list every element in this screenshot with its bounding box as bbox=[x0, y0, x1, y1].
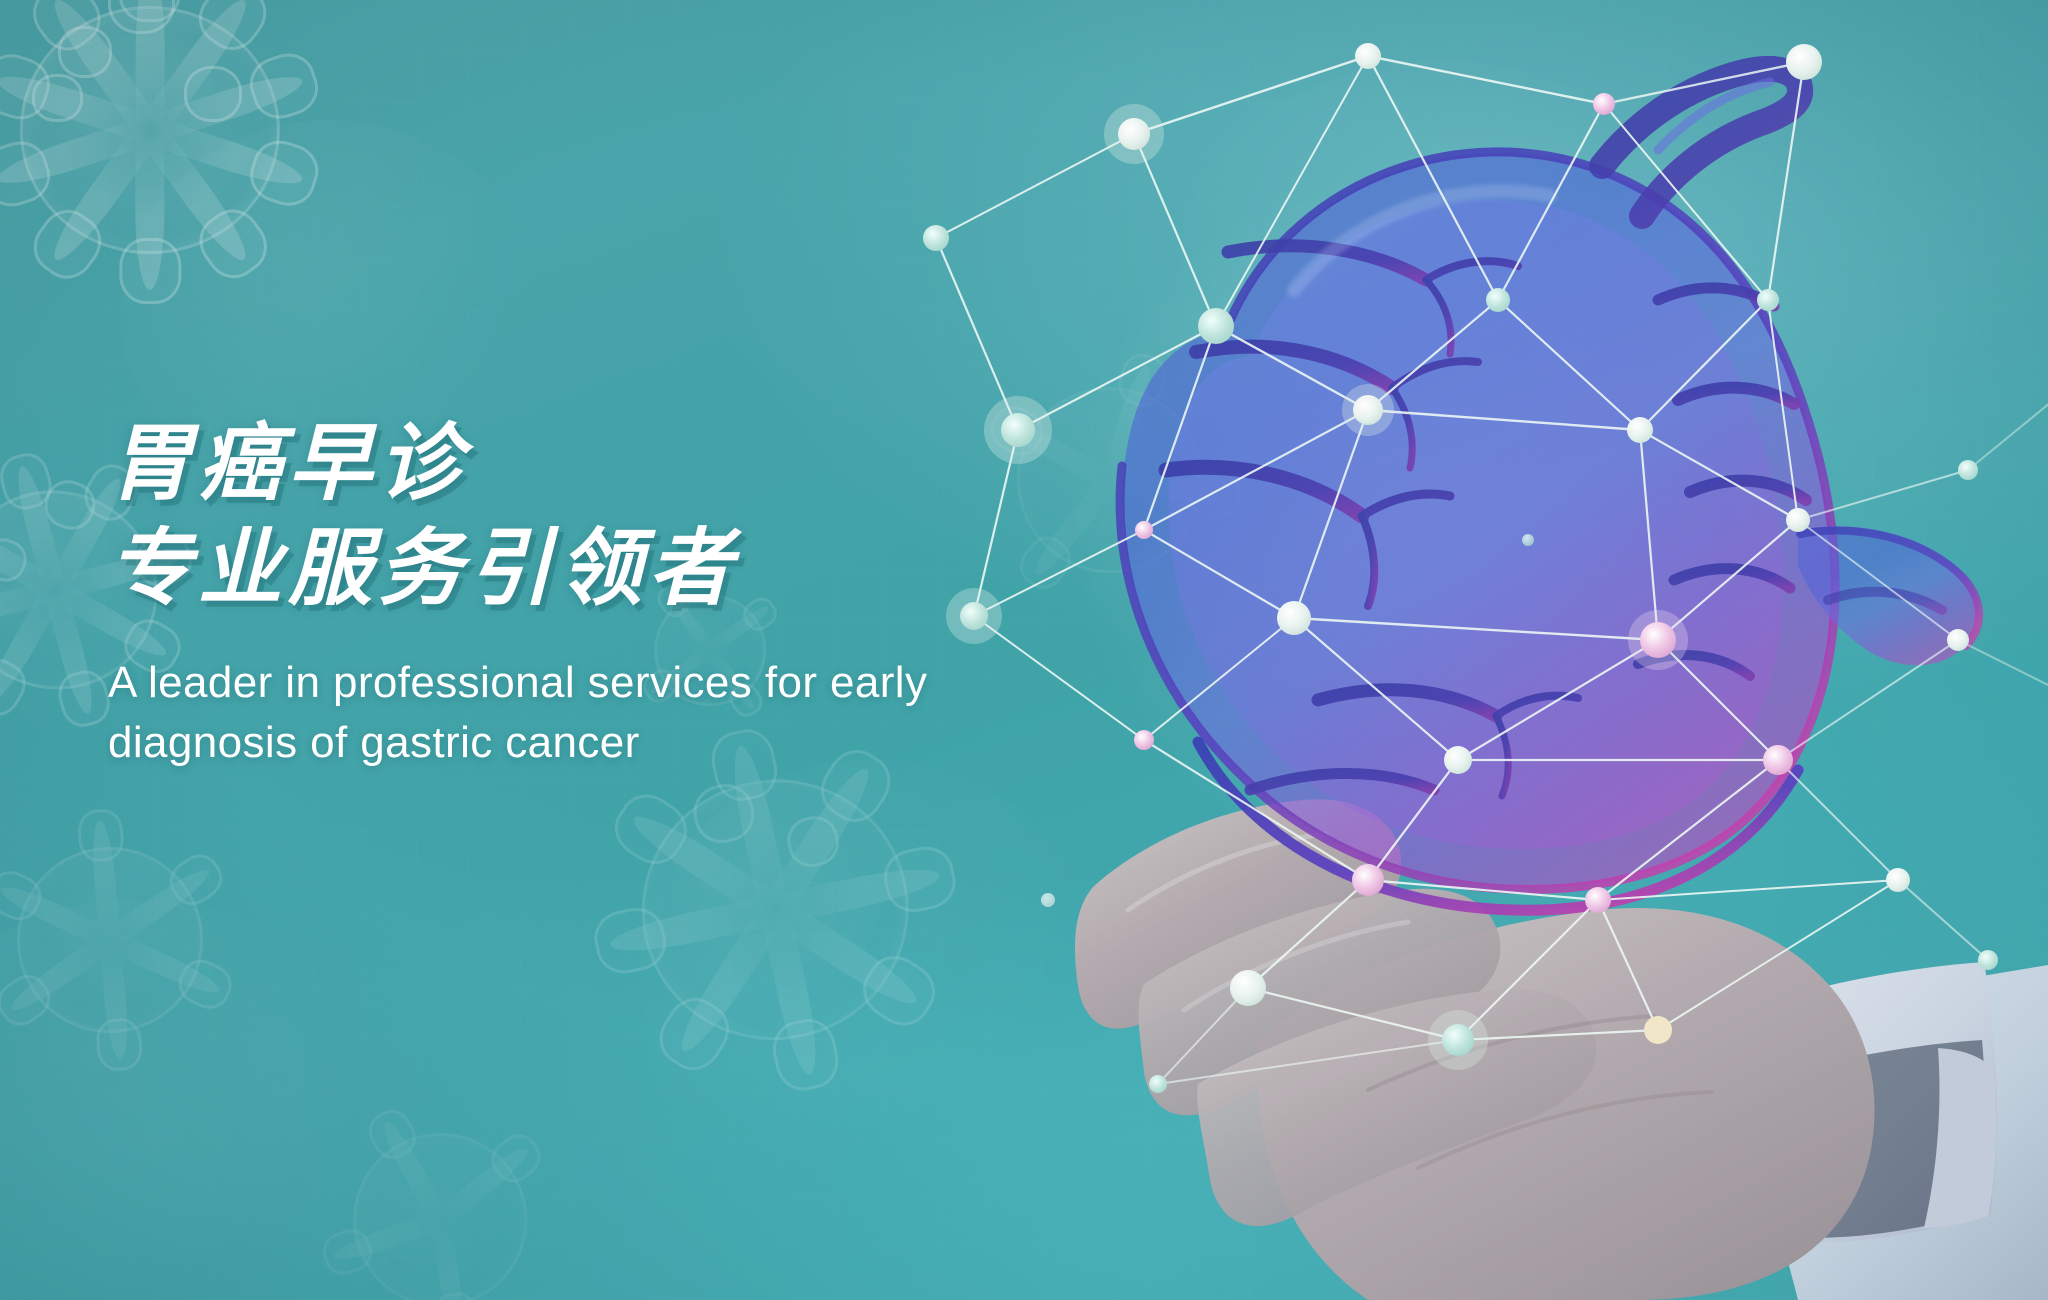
virus-spike bbox=[145, 67, 306, 144]
network-node bbox=[1355, 43, 1381, 69]
virus-dot bbox=[32, 74, 82, 122]
stomach-organ bbox=[1068, 69, 1979, 910]
virus-dot bbox=[688, 779, 759, 849]
virus-spike bbox=[89, 820, 120, 941]
virus-dot bbox=[108, 0, 175, 34]
virus-spike bbox=[44, 121, 162, 268]
virus-spike bbox=[106, 930, 224, 1000]
virus-spike bbox=[0, 67, 155, 144]
virus-body bbox=[0, 810, 240, 1069]
light-blob bbox=[0, 900, 400, 1300]
network-node bbox=[1947, 629, 1969, 651]
network-node bbox=[1118, 118, 1150, 150]
network-node bbox=[1786, 508, 1810, 532]
network-node bbox=[1644, 1016, 1672, 1044]
virus-spike bbox=[434, 1142, 533, 1228]
virus-spike bbox=[100, 939, 131, 1060]
virus-spike bbox=[44, 587, 99, 717]
virus-spike bbox=[104, 863, 214, 949]
network-node bbox=[1763, 745, 1793, 775]
virus-spike bbox=[11, 463, 66, 593]
network-node bbox=[1786, 44, 1822, 80]
network-node bbox=[1198, 308, 1234, 344]
network-node bbox=[1444, 746, 1472, 774]
virus-spike bbox=[138, 0, 256, 139]
network-node bbox=[1230, 970, 1266, 1006]
network-node bbox=[1978, 950, 1998, 970]
virus-spike bbox=[762, 761, 879, 918]
virus-spike bbox=[626, 806, 783, 923]
network-node bbox=[1149, 1075, 1167, 1093]
virus-spike bbox=[145, 116, 306, 193]
hero-banner: 胃癌早诊 专业服务引领者 A leader in professional se… bbox=[0, 0, 2048, 1300]
virus-dot bbox=[184, 66, 243, 122]
virus-spike bbox=[138, 121, 256, 268]
virus-body bbox=[20, 6, 280, 254]
virus-watermark-icon bbox=[0, 731, 319, 1149]
banner-copy: 胃癌早诊 专业服务引领者 A leader in professional se… bbox=[108, 418, 1168, 773]
network-node bbox=[1640, 622, 1676, 658]
virus-body bbox=[325, 1105, 554, 1300]
network-node bbox=[1041, 893, 1055, 907]
virus-dot bbox=[783, 812, 844, 872]
headline-line-1: 胃癌早诊 bbox=[108, 416, 468, 510]
virus-dot bbox=[0, 533, 32, 587]
network-node bbox=[1353, 395, 1383, 425]
virus-spike bbox=[44, 0, 162, 139]
network-node bbox=[1522, 534, 1534, 546]
virus-spike bbox=[6, 931, 116, 1017]
network-node bbox=[1627, 417, 1653, 443]
virus-spike bbox=[430, 1218, 467, 1300]
virus-spike bbox=[760, 907, 824, 1078]
virus-dot bbox=[58, 26, 113, 78]
virus-spike bbox=[331, 1211, 443, 1266]
virus-spike bbox=[0, 584, 65, 706]
virus-dot bbox=[39, 474, 102, 536]
network-node bbox=[1593, 93, 1615, 115]
network-node bbox=[1352, 864, 1384, 896]
virus-spike bbox=[0, 116, 155, 193]
page-title: 胃癌早诊 专业服务引领者 bbox=[108, 418, 1168, 613]
virus-spike bbox=[0, 579, 58, 634]
virus-spike bbox=[0, 880, 114, 950]
virus-spike bbox=[671, 902, 788, 1059]
network-node bbox=[1442, 1024, 1474, 1056]
virus-spike bbox=[608, 895, 779, 959]
network-node bbox=[1757, 289, 1779, 311]
virus-spike bbox=[135, 0, 164, 130]
network-node bbox=[1958, 460, 1978, 480]
virus-spike bbox=[377, 1117, 448, 1224]
virus-watermark-icon bbox=[0, 0, 360, 330]
page-subtitle: A leader in professional services for ea… bbox=[108, 653, 1108, 773]
network-node bbox=[1277, 601, 1311, 635]
network-node bbox=[1486, 288, 1510, 312]
network-node bbox=[923, 225, 949, 251]
virus-body bbox=[618, 755, 933, 1065]
network-node bbox=[1585, 887, 1611, 913]
virus-watermark-icon bbox=[255, 1035, 625, 1300]
headline-line-2: 专业服务引领者 bbox=[108, 523, 1168, 614]
virus-spike bbox=[135, 130, 164, 290]
network-node bbox=[1886, 868, 1910, 892]
virus-spike bbox=[0, 516, 61, 600]
